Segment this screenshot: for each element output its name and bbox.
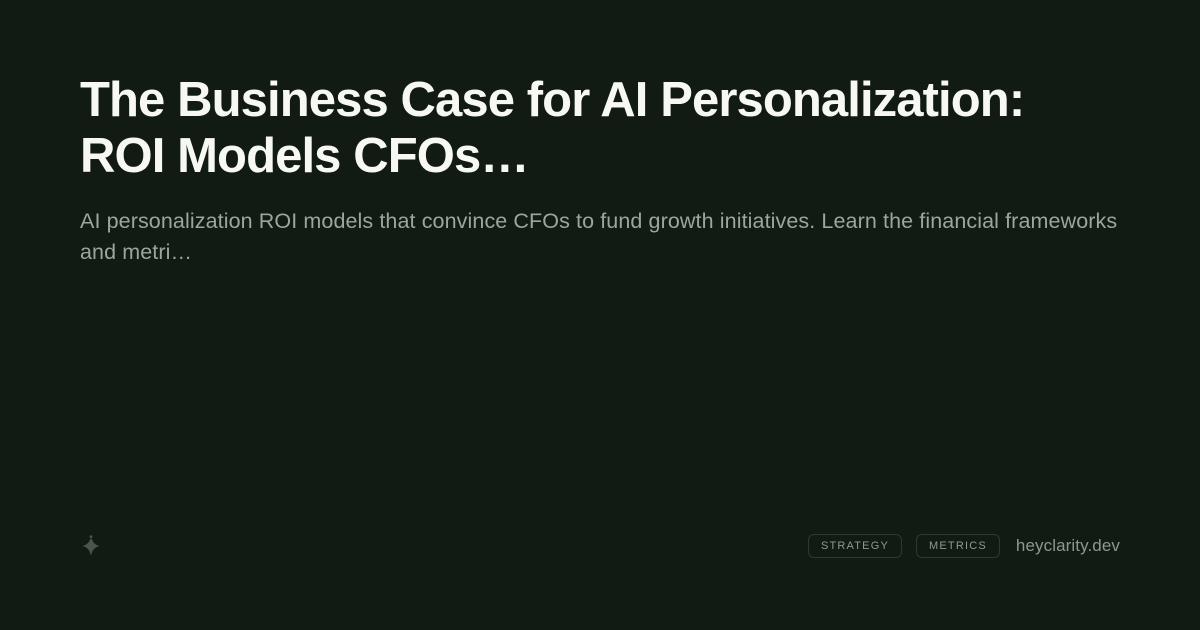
- site-domain: heyclarity.dev: [1016, 536, 1120, 556]
- card-footer: STRATEGY METRICS heyclarity.dev: [80, 532, 1120, 560]
- page-description: AI personalization ROI models that convi…: [80, 206, 1120, 268]
- brand-logo: [80, 534, 102, 558]
- sparkle-diamond-icon: [80, 534, 102, 558]
- footer-meta: STRATEGY METRICS heyclarity.dev: [808, 534, 1120, 558]
- page-title: The Business Case for AI Personalization…: [80, 72, 1080, 184]
- tag-strategy[interactable]: STRATEGY: [808, 534, 902, 558]
- tag-list: STRATEGY METRICS: [808, 534, 1000, 558]
- card-content: The Business Case for AI Personalization…: [80, 72, 1140, 268]
- tag-metrics[interactable]: METRICS: [916, 534, 1000, 558]
- og-social-card: The Business Case for AI Personalization…: [0, 0, 1200, 630]
